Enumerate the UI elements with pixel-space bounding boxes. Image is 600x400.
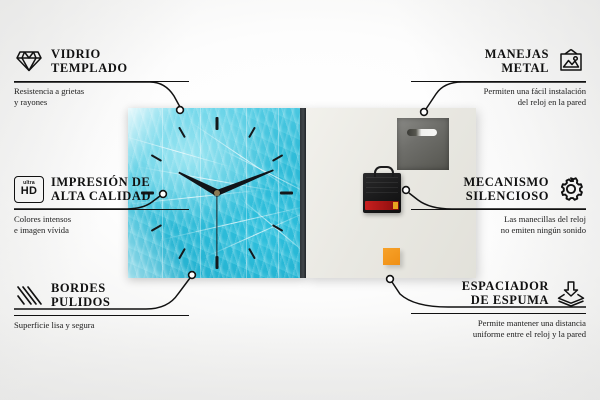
gear-icon [556, 174, 586, 204]
feature-divider [411, 313, 586, 314]
feature-description: Superficie lisa y segura [14, 320, 189, 331]
feature-manejas-metal: MANEJAS METAL Permiten una fácil instala… [411, 44, 586, 108]
connector-endpoint-mecanismo [403, 187, 410, 194]
feature-divider [14, 81, 189, 82]
feature-description: Resistencia a grietas y rayones [14, 86, 189, 108]
feature-divider [411, 209, 586, 210]
feature-espaciador-espuma: ESPACIADOR DE ESPUMA Permite mantener un… [411, 276, 586, 340]
feature-header: MANEJAS METAL [411, 44, 586, 78]
feature-divider [14, 315, 189, 316]
feature-description: Permiten una fácil instalación del reloj… [411, 86, 586, 108]
feature-impresion-alta-calidad: ultra HD IMPRESIÓN DE ALTA CALIDAD Color… [14, 172, 189, 236]
feature-title: MANEJAS METAL [485, 47, 549, 76]
feature-header: MECANISMO SILENCIOSO [411, 172, 586, 206]
picture-frame-icon [556, 46, 586, 76]
feature-header: BORDES PULIDOS [14, 278, 189, 312]
feature-header: ESPACIADOR DE ESPUMA [411, 276, 586, 310]
connector-endpoint-manejas [421, 109, 428, 116]
feature-header: VIDRIO TEMPLADO [14, 44, 189, 78]
feature-title: BORDES PULIDOS [51, 281, 110, 310]
connector-endpoint-bordes [189, 272, 196, 279]
polished-edges-icon [14, 280, 44, 310]
ultra-hd-icon: ultra HD [14, 174, 44, 204]
feature-title: VIDRIO TEMPLADO [51, 47, 128, 76]
foam-spacer-icon [556, 278, 586, 308]
feature-title: MECANISMO SILENCIOSO [463, 175, 549, 204]
feature-vidrio-templado: VIDRIO TEMPLADO Resistencia a grietas y … [14, 44, 189, 108]
feature-header: ultra HD IMPRESIÓN DE ALTA CALIDAD [14, 172, 189, 206]
ultra-hd-icon-main-label: HD [21, 186, 38, 197]
feature-description: Colores intensos e imagen vívida [14, 214, 189, 236]
feature-mecanismo-silencioso: MECANISMO SILENCIOSO Las manecillas del … [411, 172, 586, 236]
diamond-icon [14, 46, 44, 76]
feature-divider [411, 81, 586, 82]
feature-description: Las manecillas del reloj no emiten ningú… [411, 214, 586, 236]
feature-title: ESPACIADOR DE ESPUMA [462, 279, 549, 308]
feature-bordes-pulidos: BORDES PULIDOS Superficie lisa y segura [14, 278, 189, 331]
connector-endpoint-espaciador [387, 276, 394, 283]
product-infographic: VIDRIO TEMPLADO Resistencia a grietas y … [0, 0, 600, 400]
feature-title: IMPRESIÓN DE ALTA CALIDAD [51, 175, 151, 204]
feature-description: Permite mantener una distancia uniforme … [411, 318, 586, 340]
feature-divider [14, 209, 189, 210]
